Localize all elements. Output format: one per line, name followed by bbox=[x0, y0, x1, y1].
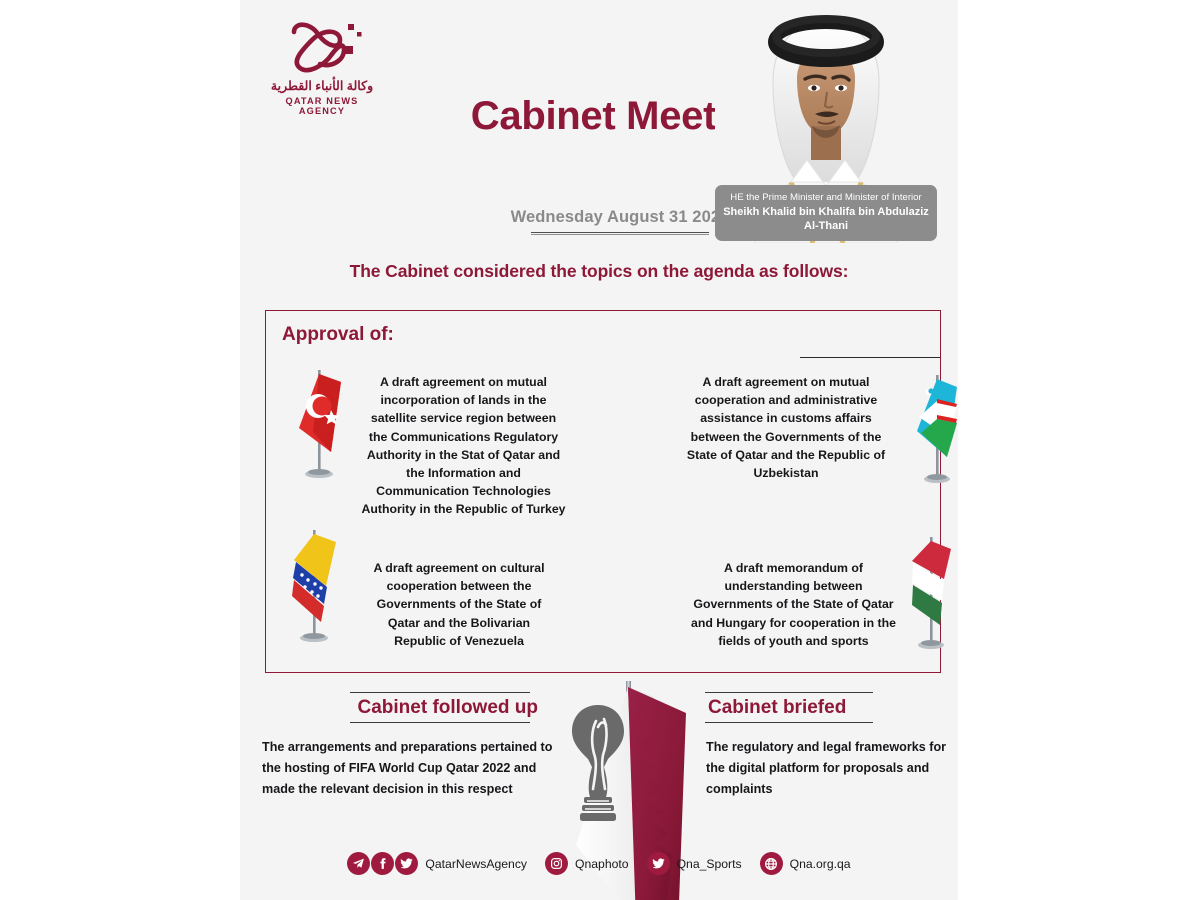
section-rule-bottom bbox=[350, 722, 530, 723]
globe-icon[interactable] bbox=[760, 852, 783, 875]
section-rule-bottom bbox=[705, 722, 873, 723]
logo-square-top bbox=[348, 24, 354, 30]
caption-name: Sheikh Khalid bin Khalifa bin Abdulaziz … bbox=[723, 205, 929, 233]
logo-square-small bbox=[357, 32, 362, 37]
section-body: The arrangements and preparations pertai… bbox=[260, 737, 554, 800]
logo-arabic-name: وكالة الأنباء القطرية bbox=[262, 78, 382, 93]
section-title: Cabinet briefed bbox=[678, 697, 958, 719]
section-followed-up: Cabinet followed up The arrangements and… bbox=[260, 692, 560, 800]
hungary-flag-icon bbox=[904, 533, 958, 658]
section-header: Cabinet followed up bbox=[260, 692, 560, 723]
infographic-poster: وكالة الأنباء القطرية QATAR NEWS AGENCY … bbox=[240, 0, 958, 900]
approval-item-hungary: A draft memorandum of understanding betw… bbox=[686, 559, 901, 650]
section-title: Cabinet followed up bbox=[260, 697, 560, 719]
date-divider bbox=[531, 232, 709, 235]
logo-square-bottom bbox=[345, 46, 353, 54]
social-handle-website[interactable]: Qna.org.qa bbox=[790, 857, 851, 871]
venezuela-flag-icon bbox=[286, 526, 348, 651]
social-handle-qatarnewsagency[interactable]: QatarNewsAgency bbox=[425, 857, 527, 871]
social-handle-qna-sports[interactable]: Qna_Sports bbox=[677, 857, 742, 871]
section-rule-top bbox=[350, 692, 530, 693]
turkey-flag-icon bbox=[291, 366, 353, 486]
uzbekistan-flag-icon bbox=[911, 371, 958, 491]
instagram-icon[interactable] bbox=[545, 852, 568, 875]
portrait-caption: HE the Prime Minister and Minister of In… bbox=[715, 185, 937, 241]
social-handle-qnaphoto[interactable]: Qnaphoto bbox=[575, 857, 629, 871]
section-header: Cabinet briefed bbox=[678, 692, 958, 723]
twitter-icon[interactable] bbox=[395, 852, 418, 875]
caption-role: HE the Prime Minister and Minister of In… bbox=[723, 191, 929, 204]
agenda-heading: The Cabinet considered the topics on the… bbox=[240, 261, 958, 282]
social-group-website: Qna.org.qa bbox=[760, 852, 851, 875]
social-group-instagram: Qnaphoto bbox=[545, 852, 629, 875]
fifa-world-cup-trophy-icon bbox=[558, 697, 638, 825]
section-body: The regulatory and legal frameworks for … bbox=[678, 737, 958, 800]
section-briefed: Cabinet briefed The regulatory and legal… bbox=[678, 692, 958, 800]
approval-item-uzbekistan: A draft agreement on mutual cooperation … bbox=[681, 373, 891, 482]
social-group-main: QatarNewsAgency bbox=[347, 852, 527, 875]
telegram-icon[interactable] bbox=[347, 852, 370, 875]
approval-item-turkey: A draft agreement on mutual incorporatio… bbox=[361, 373, 566, 519]
section-rule-top bbox=[705, 692, 873, 693]
qna-atom-logo-icon bbox=[262, 16, 382, 78]
social-group-sports: Qna_Sports bbox=[647, 852, 742, 875]
portrait-block: HE the Prime Minister and Minister of In… bbox=[715, 0, 937, 243]
approval-heading: Approval of: bbox=[282, 324, 394, 346]
approval-divider bbox=[800, 357, 940, 358]
page-canvas: وكالة الأنباء القطرية QATAR NEWS AGENCY … bbox=[0, 0, 1200, 900]
facebook-icon[interactable] bbox=[371, 852, 394, 875]
twitter-icon[interactable] bbox=[647, 852, 670, 875]
social-footer: QatarNewsAgency Qnaphoto Qna_Sports bbox=[240, 852, 958, 875]
approval-item-venezuela: A draft agreement on cultural cooperatio… bbox=[361, 559, 557, 650]
approval-section: A draft agreement on mutual incorporatio… bbox=[265, 310, 941, 673]
